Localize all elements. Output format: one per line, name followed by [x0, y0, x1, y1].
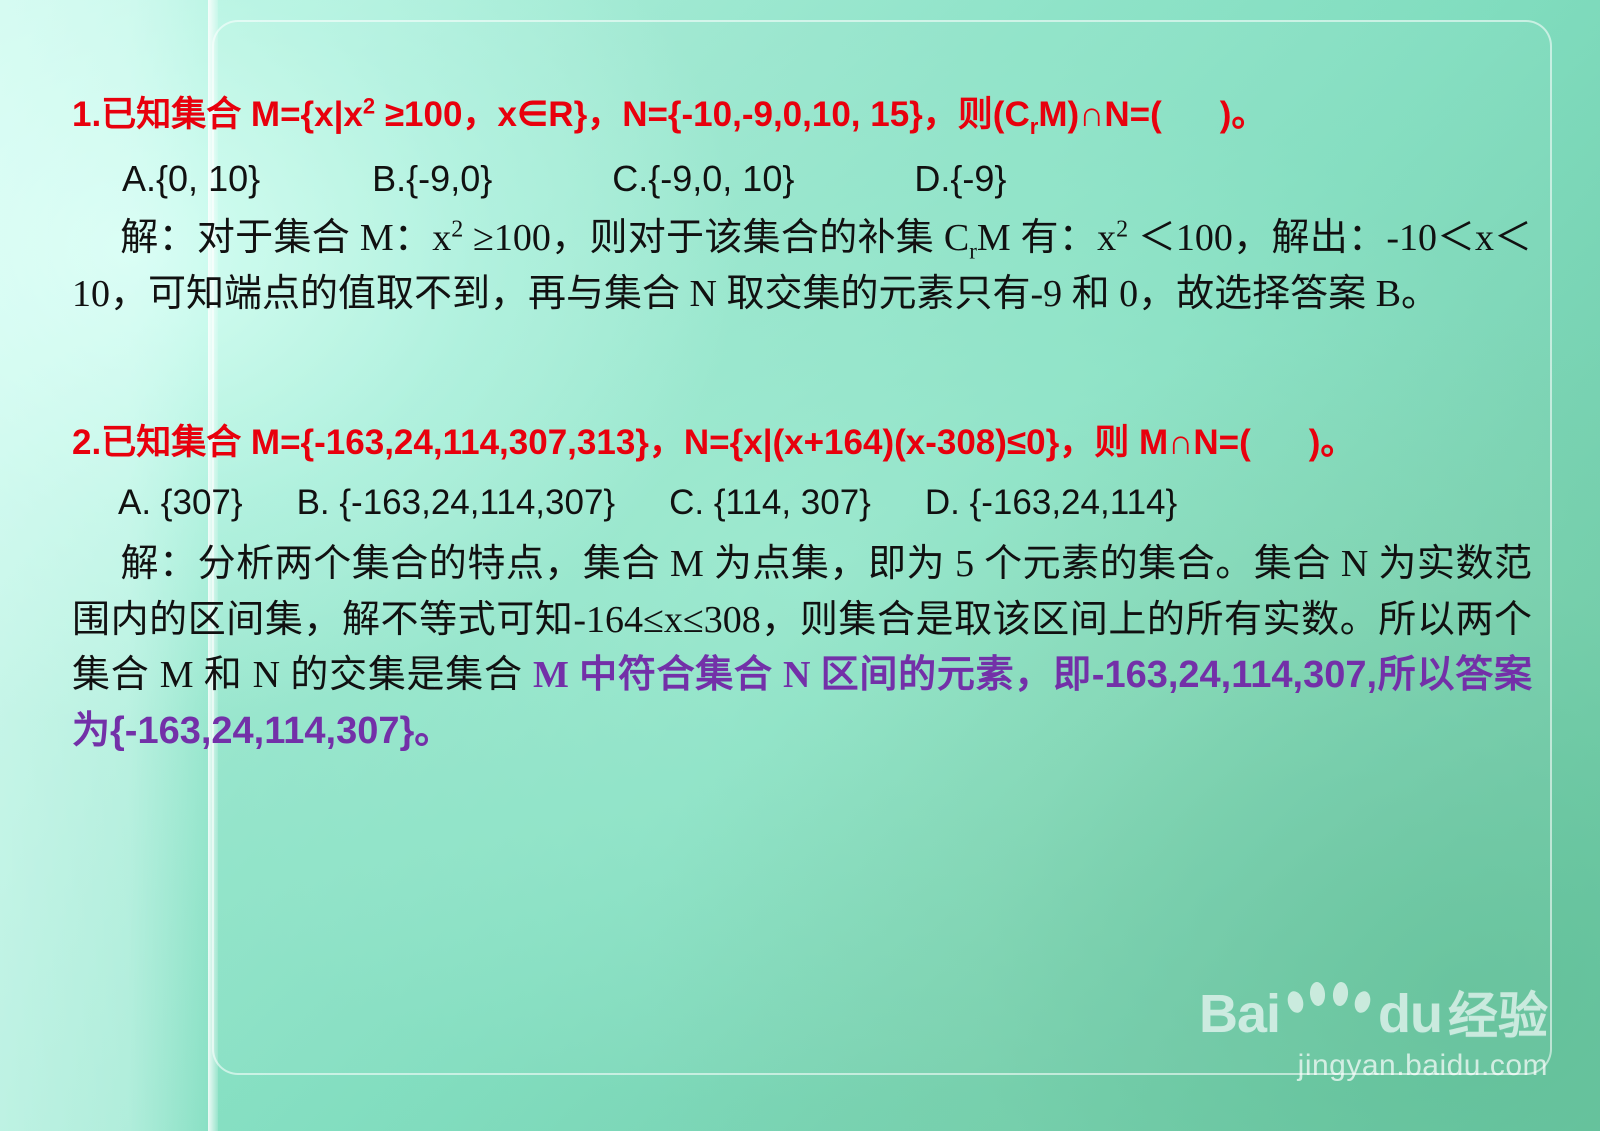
paw-icon: [1286, 981, 1372, 1041]
problem2-option-c: C. {114, 307}: [669, 483, 871, 522]
problem1-option-c: C.{-9,0, 10}: [612, 158, 794, 199]
problem2-solution-purple-1: M 中符合集合 N 区间的元素，即: [533, 654, 1092, 696]
problem1-solution-sub-1: r: [969, 239, 977, 264]
problem2-option-b: B. {-163,24,114,307}: [297, 483, 616, 522]
problem2-options: A. {307}B. {-163,24,114,307}C. {114, 307…: [72, 483, 1532, 523]
slide-canvas: 1.已知集合 M={x|x2 ≥100，x∈R}，N={-10,-9,0,10,…: [0, 0, 1600, 1131]
problem2-stem: 已知集合 M={-163,24,114,307,313}，N={x|(x+164…: [101, 423, 1251, 462]
problem2-solution-purple-number-1: -163,24,114,307,: [1092, 654, 1377, 696]
problem2-block: 2.已知集合 M={-163,24,114,307,313}，N={x|(x+1…: [72, 414, 1532, 759]
problem1-option-a: A.{0, 10}: [122, 158, 260, 199]
problem2-number: 2.: [72, 423, 101, 462]
problem1-question: 1.已知集合 M={x|x2 ≥100，x∈R}，N={-10,-9,0,10,…: [72, 86, 1532, 140]
problem1-stem-part2: ≥100，x∈R}，N={-10,-9,0,10, 15}，则(C: [375, 95, 1030, 134]
problem1-stem-part1: 已知集合 M={x|x: [101, 95, 363, 134]
baidu-brand-bai: Bai: [1199, 987, 1280, 1041]
problem2-question: 2.已知集合 M={-163,24,114,307,313}，N={x|(x+1…: [72, 414, 1532, 465]
problem1-stem-part4: )。: [1220, 95, 1267, 134]
problem1-solution-seg3: M 有：x: [977, 217, 1116, 259]
problem2-solution: 解：分析两个集合的特点，集合 M 为点集，即为 5 个元素的集合。集合 N 为实…: [72, 537, 1532, 759]
problem1-solution-seg2: ≥100，则对于该集合的补集 C: [463, 217, 969, 259]
problem1-option-b: B.{-9,0}: [372, 158, 492, 199]
baidu-brand-cn: 经验: [1448, 991, 1548, 1041]
problem1-superscript-1: 2: [363, 93, 375, 118]
problem1-solution: 解：对于集合 M：x2 ≥100，则对于该集合的补集 CrM 有：x2 ＜100…: [72, 212, 1532, 322]
problem1-number: 1.: [72, 95, 101, 134]
problem1-solution-sup-1: 2: [451, 216, 463, 242]
problem1-option-d: D.{-9}: [914, 158, 1006, 199]
baidu-watermark: Bai du 经验 jingyan.baidu.com: [1199, 981, 1548, 1083]
problem1-solution-sup-2: 2: [1116, 216, 1128, 242]
baidu-brand-du: du: [1378, 987, 1442, 1041]
baidu-watermark-url: jingyan.baidu.com: [1199, 1049, 1548, 1083]
problem2-stem-tail: )。: [1309, 423, 1356, 462]
problem2-option-a: A. {307}: [118, 483, 243, 522]
problem1-stem-part3: M)∩N=(: [1038, 95, 1161, 134]
problem1-solution-seg1: 解：对于集合 M：x: [120, 217, 451, 259]
problem1-options: A.{0, 10}B.{-9,0}C.{-9,0, 10}D.{-9}: [72, 158, 1532, 200]
document-body: 1.已知集合 M={x|x2 ≥100，x∈R}，N={-10,-9,0,10,…: [72, 86, 1532, 759]
baidu-watermark-logo-row: Bai du 经验: [1199, 981, 1548, 1041]
problem2-option-d: D. {-163,24,114}: [925, 483, 1177, 522]
problem2-solution-purple-tail: 。: [414, 710, 452, 752]
problem2-solution-purple-number-2: {-163,24,114,307}: [110, 710, 414, 752]
